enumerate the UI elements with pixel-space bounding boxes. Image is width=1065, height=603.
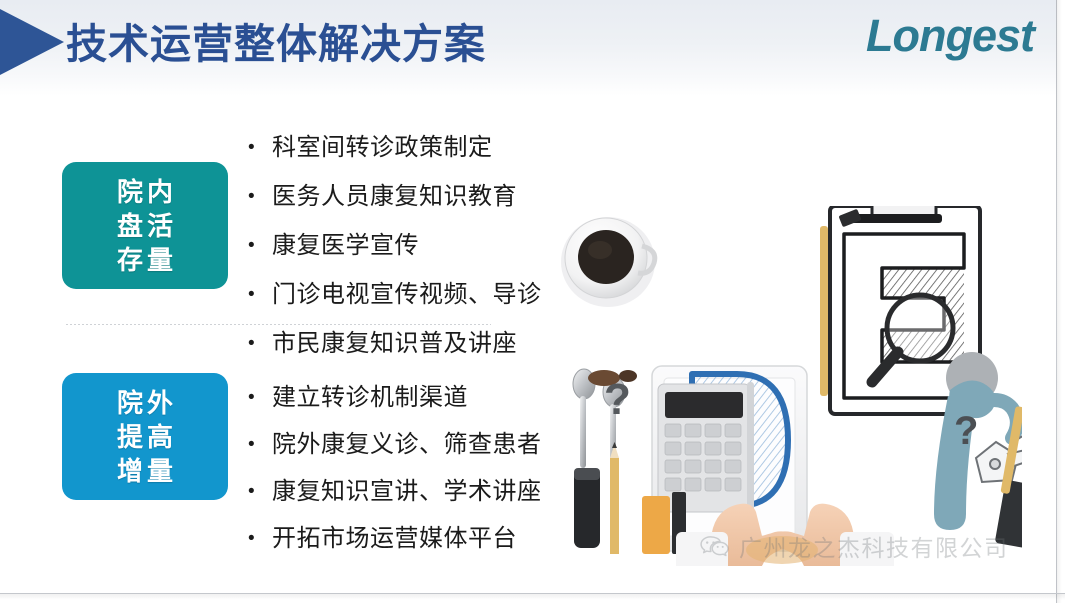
- page-title: 技术运营整体解决方案: [66, 16, 486, 72]
- badge-inner-line-3: 存量: [113, 243, 177, 277]
- list-item: • 市民康复知识普及讲座: [248, 327, 542, 360]
- svg-text:?: ?: [604, 375, 631, 424]
- list-item-label: 科室间转诊政策制定: [272, 131, 493, 164]
- bullet-icon: •: [248, 381, 272, 414]
- list-item: • 康复知识宣讲、学术讲座: [248, 475, 542, 508]
- list-item: • 建立转诊机制渠道: [248, 381, 542, 414]
- list-item-label: 医务人员康复知识教育: [272, 180, 517, 213]
- coffee-cup-icon: [561, 217, 655, 307]
- badge-inner-hospital: 院内 盘活 存量: [62, 162, 228, 289]
- list-item: • 开拓市场运营媒体平台: [248, 522, 542, 555]
- list-item-label: 门诊电视宣传视频、导诊: [272, 278, 542, 311]
- right-arrow-icon: [0, 8, 64, 76]
- bullet-icon: •: [248, 131, 272, 164]
- list-item: • 院外康复义诊、筛查患者: [248, 428, 542, 461]
- bullet-list-inner: • 科室间转诊政策制定 • 医务人员康复知识教育 • 康复医学宣传 • 门诊电视…: [248, 131, 542, 376]
- frame-bottom-shadow: [0, 594, 1065, 600]
- list-item: • 门诊电视宣传视频、导诊: [248, 278, 542, 311]
- frame-bottom-border: [0, 593, 1065, 594]
- slide: 技术运营整体解决方案 Longest 院内 盘活 存量 • 科室间转诊政策制定 …: [0, 0, 1065, 603]
- list-item-label: 市民康复知识普及讲座: [272, 327, 517, 360]
- frame-right-shadow: [1057, 0, 1062, 603]
- slide-header: 技术运营整体解决方案 Longest: [0, 0, 1056, 96]
- idea-flatlay-photo: ?: [552, 206, 1022, 566]
- list-item: • 医务人员康复知识教育: [248, 180, 542, 213]
- bullet-icon: •: [248, 327, 272, 360]
- badge-outer-line-1: 院外: [113, 386, 177, 420]
- badge-inner-line-1: 院内: [113, 175, 177, 209]
- bullet-icon: •: [248, 475, 272, 508]
- list-item: • 科室间转诊政策制定: [248, 131, 542, 164]
- bullet-icon: •: [248, 180, 272, 213]
- section-divider: [66, 324, 491, 325]
- list-item-label: 康复医学宣传: [272, 229, 419, 262]
- badge-outer-hospital: 院外 提高 增量: [62, 373, 228, 500]
- list-item-label: 院外康复义诊、筛查患者: [272, 428, 542, 461]
- bullet-icon: •: [248, 278, 272, 311]
- badge-outer-line-2: 提高: [113, 420, 177, 454]
- list-item-label: 开拓市场运营媒体平台: [272, 522, 517, 555]
- brand-logo: Longest: [866, 8, 1034, 64]
- list-item-label: 建立转诊机制渠道: [272, 381, 468, 414]
- list-item: • 康复医学宣传: [248, 229, 542, 262]
- badge-outer-line-3: 增量: [113, 454, 177, 488]
- bullet-icon: •: [248, 229, 272, 262]
- list-item-label: 康复知识宣讲、学术讲座: [272, 475, 542, 508]
- bullet-list-outer: • 建立转诊机制渠道 • 院外康复义诊、筛查患者 • 康复知识宣讲、学术讲座 •…: [248, 381, 542, 569]
- badge-inner-line-2: 盘活: [113, 209, 177, 243]
- frame-right-border: [1056, 0, 1057, 603]
- bullet-icon: •: [248, 522, 272, 555]
- bullet-icon: •: [248, 428, 272, 461]
- svg-text:?: ?: [954, 409, 978, 453]
- letter-a-objects: ?: [934, 352, 1022, 548]
- letter-i-objects: ?: [573, 369, 637, 554]
